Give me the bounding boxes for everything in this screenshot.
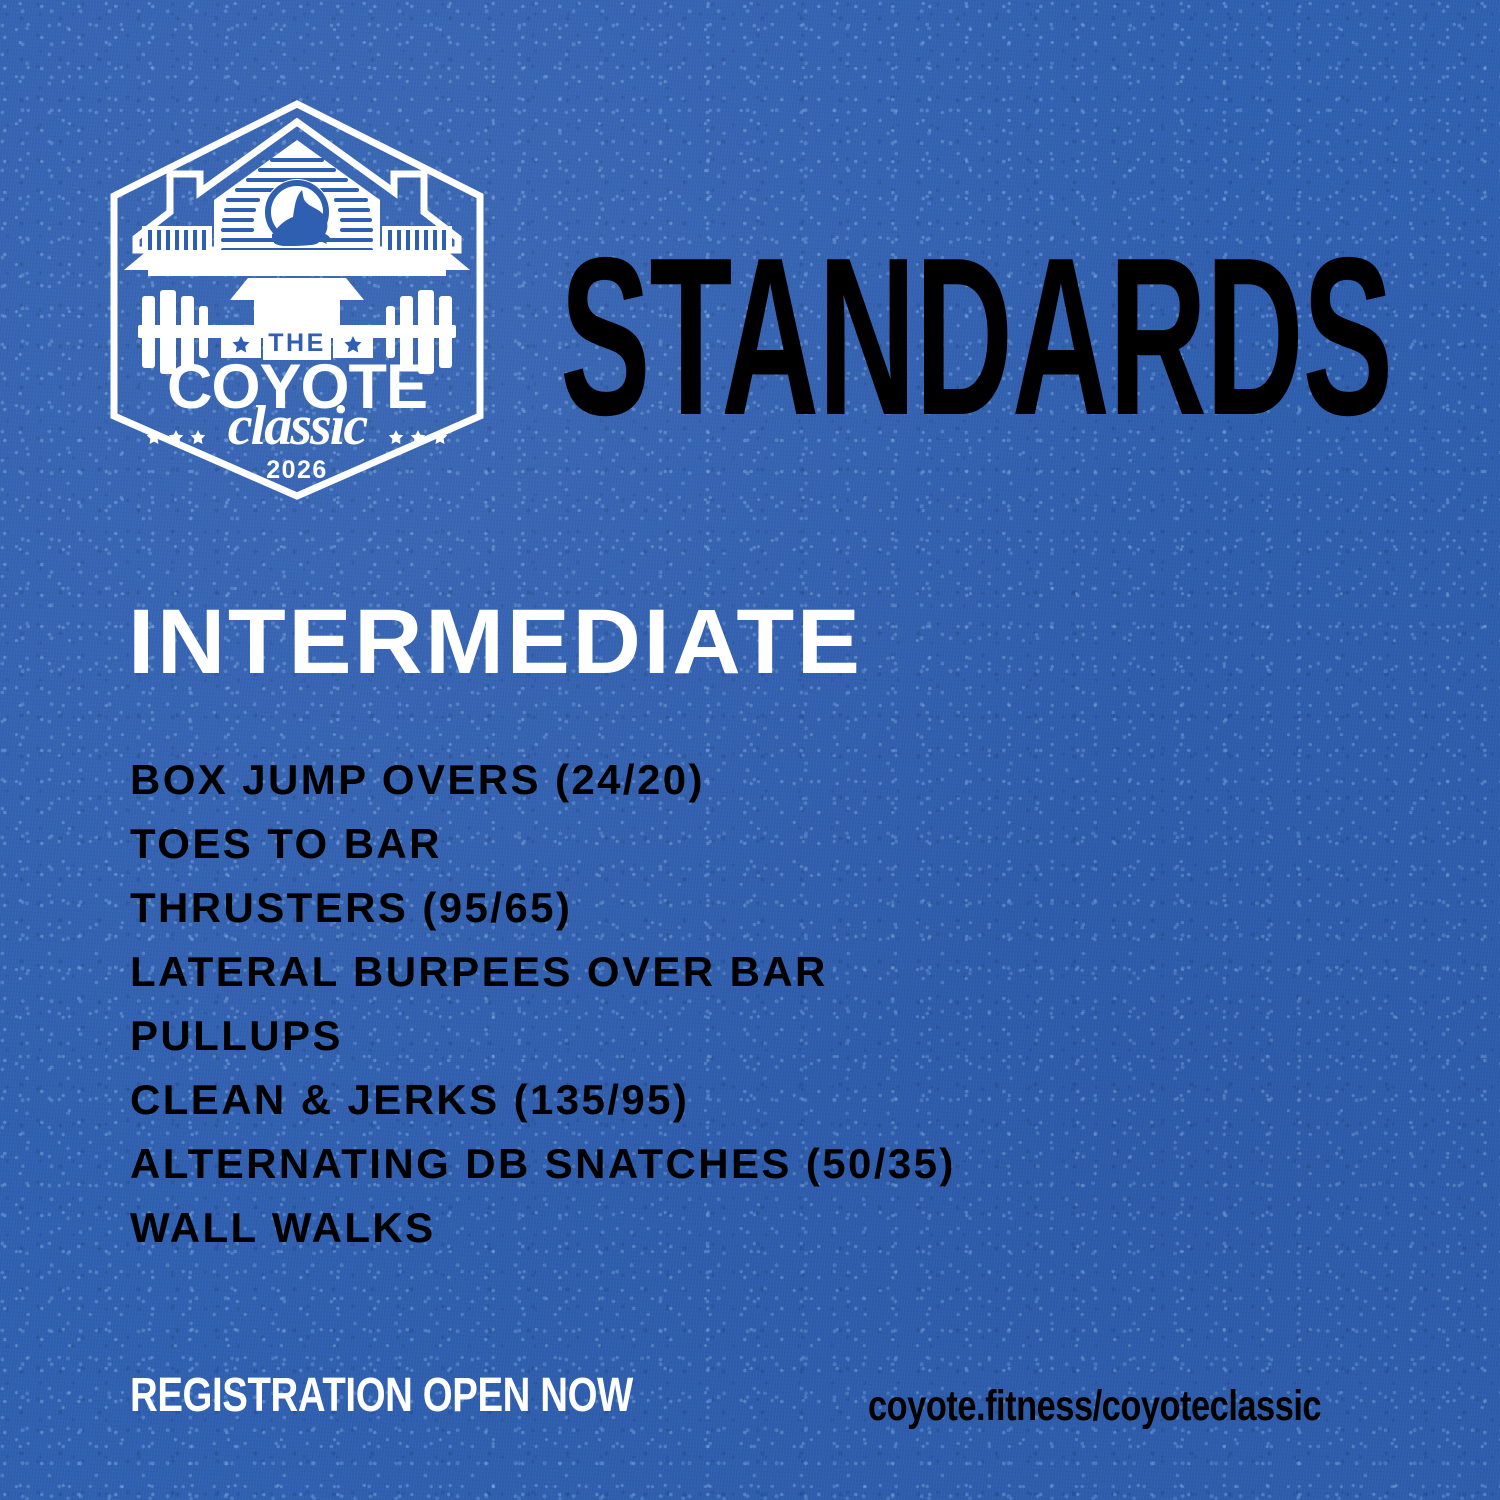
division-heading: INTERMEDIATE bbox=[128, 596, 863, 688]
porch-railing-left bbox=[142, 226, 212, 250]
list-item: THRUSTERS (95/65) bbox=[130, 876, 1370, 940]
brand-script-classic: classic bbox=[228, 395, 369, 457]
movement-standards-list: BOX JUMP OVERS (24/20) TOES TO BAR THRUS… bbox=[130, 748, 1370, 1260]
badge-year: 2026 bbox=[266, 456, 328, 484]
page-title-text: STANDARDS bbox=[560, 232, 1392, 452]
website-url[interactable]: coyote.fitness/coyoteclassic bbox=[868, 1382, 1321, 1431]
porch-railing-right bbox=[382, 226, 452, 250]
coyote-classic-logo[interactable]: THE COYOTE classic 2026 bbox=[108, 100, 486, 500]
registration-cta[interactable]: REGISTRATION OPEN NOW bbox=[130, 1368, 633, 1423]
list-item: WALL WALKS bbox=[130, 1196, 1370, 1260]
list-item: BOX JUMP OVERS (24/20) bbox=[130, 748, 1370, 812]
poster-canvas: THE COYOTE classic 2026 STANDARDS I bbox=[0, 0, 1500, 1500]
list-item: TOES TO BAR bbox=[130, 812, 1370, 876]
page-title: STANDARDS bbox=[560, 232, 1420, 452]
list-item: CLEAN & JERKS (135/95) bbox=[130, 1068, 1370, 1132]
list-item: LATERAL BURPEES OVER BAR bbox=[130, 940, 1370, 1004]
list-item: ALTERNATING DB SNATCHES (50/35) bbox=[130, 1132, 1370, 1196]
list-item: PULLUPS bbox=[130, 1004, 1370, 1068]
